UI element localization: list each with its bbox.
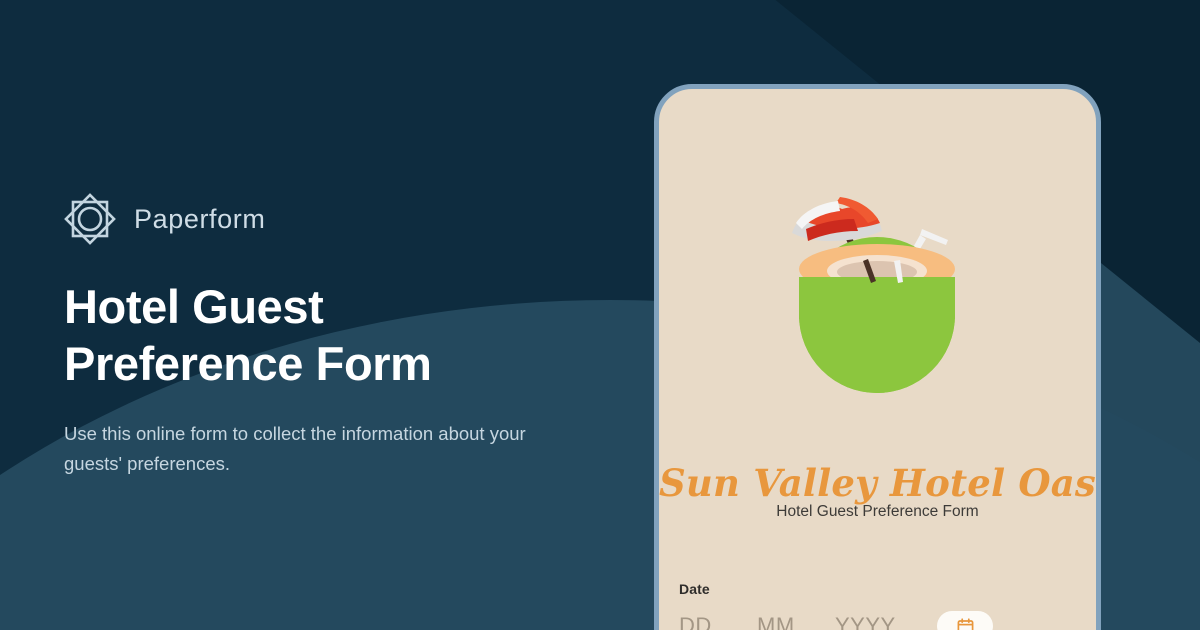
date-day-input[interactable]: DD [679,613,757,630]
left-content-panel: Paperform Hotel Guest Preference Form Us… [64,190,584,479]
page-description: Use this online form to collect the info… [64,419,544,479]
page-title: Hotel Guest Preference Form [64,278,534,393]
form-subtitle: Hotel Guest Preference Form [659,503,1096,521]
date-year-input[interactable]: YYYY [835,613,931,630]
date-input-row[interactable]: DD MM YYYY [679,611,1076,630]
brand-name: Paperform [134,204,265,235]
form-card-inner: Sun Valley Hotel Oasis Hotel Guest Prefe… [659,89,1096,630]
paperform-star-logo-icon [64,193,116,245]
calendar-icon [957,618,974,630]
date-field-label: Date [679,581,1076,597]
date-month-input[interactable]: MM [757,613,835,630]
form-title: Sun Valley Hotel Oasis [659,461,1096,505]
date-picker-button[interactable] [937,611,993,630]
form-preview-card: Sun Valley Hotel Oasis Hotel Guest Prefe… [654,84,1101,630]
date-field-block: Date DD MM YYYY [679,581,1076,630]
tropical-coconut-drink-icon [659,165,1096,395]
brand-lockup: Paperform [64,190,584,248]
promo-graphic-canvas: Paperform Hotel Guest Preference Form Us… [0,0,1200,630]
